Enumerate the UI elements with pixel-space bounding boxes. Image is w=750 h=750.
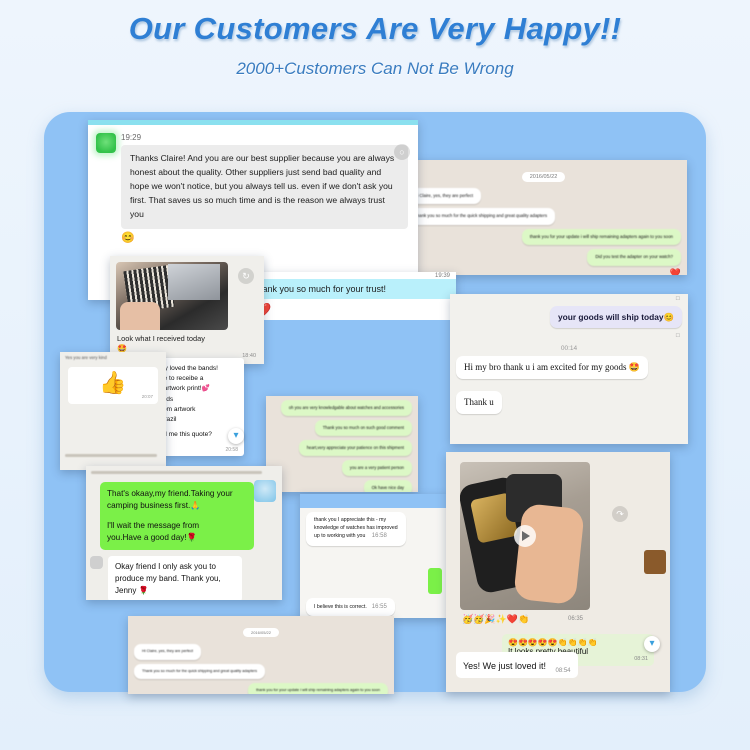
reply-line-1: Okay friend I only ask you to: [115, 561, 235, 573]
watch-video-thumbnail[interactable]: [460, 462, 590, 610]
shot-knowledge-panel[interactable]: oh you are very knowledgable about watch…: [266, 396, 418, 492]
emoji-icon: 🙏: [190, 501, 200, 510]
final-message: Yes! We just loved it!: [463, 661, 546, 671]
chat-text: Thank u: [456, 391, 502, 414]
thumbnail-preview[interactable]: [644, 550, 666, 574]
shot-adapter-panel-top[interactable]: 2016/05/22 Hi Claire, yes, they are perf…: [400, 160, 687, 275]
emoji-icon: 🌹: [187, 533, 197, 542]
contact-avatar: [90, 556, 103, 569]
green-line-2: camping business first.: [107, 501, 190, 510]
message-time: 20:58: [225, 447, 238, 453]
emoji-reaction-icon[interactable]: ○: [394, 144, 410, 160]
contact-avatar: [96, 133, 116, 153]
shot-watches-improved[interactable]: thank you I appreciate this - my knowled…: [300, 494, 448, 618]
testimonial-collage-page: Our Customers Are Very Happy!! 2000+Cust…: [0, 0, 750, 750]
page-subtitle: 2000+Customers Can Not Be Wrong: [0, 59, 750, 79]
emoji-icon: 💕: [202, 385, 210, 392]
scroll-to-bottom-icon[interactable]: ▾: [644, 636, 660, 652]
chat-bubble: thank you so much for your trust!: [246, 279, 456, 299]
message-time: 06:35: [568, 616, 583, 622]
forward-icon[interactable]: ↷: [612, 506, 628, 522]
chat-bubble: oh you are very knowledgable about watch…: [281, 400, 412, 416]
green-line-1: That's okaay,my friend.Taking your: [107, 488, 247, 500]
shot-watch-video[interactable]: ↷ 🥳🥳🎉✨❤️👏 06:35 😍😍😍😍😍👏👏👏👏 It looks prett…: [446, 452, 670, 692]
reply-line-2: produce my band. Thank you,: [115, 573, 235, 585]
shot-thanks-trust[interactable]: 19:39 thank you so much for your trust! …: [246, 272, 456, 320]
photo-caption: Look what I received today: [117, 334, 205, 343]
emoji-icon: 🤩: [629, 362, 640, 372]
chat-bubble: heart,very appreciate your patience on t…: [299, 440, 412, 456]
chat-text: Hi my bro thank u i am excited for my go…: [464, 362, 626, 372]
heart-reaction-icon: ❤️: [246, 299, 456, 320]
shot-adapter-panel-bottom[interactable]: 2016/05/22 Hi Claire, yes, they are perf…: [128, 616, 394, 694]
message-time: 00:14: [450, 345, 688, 352]
chat-bubble: thank you for your update i will ship re…: [248, 683, 388, 694]
chat-bubble: Ok have nice day: [364, 480, 412, 492]
reply-line-3: Jenny: [115, 586, 136, 595]
shot-ship-today[interactable]: ☐ your goods will ship today😊 ☐ 00:14 Hi…: [450, 294, 688, 444]
shot-thumbs-sticker[interactable]: Yes you are very kind 👍 20:07: [60, 352, 166, 470]
message-time: 08:54: [556, 668, 571, 674]
chat-bubble: Thank you so much for the quick shipping…: [134, 664, 265, 680]
chat-bubble: thank you for your update i will ship re…: [522, 229, 681, 245]
forward-icon[interactable]: ↻: [238, 268, 254, 284]
heart-reaction-icon: ❤️: [670, 268, 681, 276]
play-button-icon[interactable]: [514, 525, 536, 547]
scroll-to-bottom-icon[interactable]: ▾: [228, 428, 244, 444]
message-time: 19:39: [435, 273, 450, 279]
green-message-bubble: That's okaay,my friend.Taking your campi…: [100, 482, 254, 550]
chat-bubble: I believe this is correct.16:55: [306, 598, 395, 617]
chat-bubble: Hi Claire, yes, they are perfect: [134, 644, 201, 660]
testimonial-message: Thanks Claire! And you are our best supp…: [121, 145, 408, 229]
chat-bubble: Thank you so much on such good comment: [315, 420, 412, 436]
message-time: 19:29: [121, 133, 141, 142]
reaction-emojis: 🥳🥳🎉✨❤️👏: [462, 614, 529, 625]
emoji-smiley-icon: 😊: [121, 231, 408, 244]
emoji-icon: 🌹: [139, 586, 149, 595]
panel-divider: [246, 320, 456, 342]
chat-bubble: Thank you so much for the quick shipping…: [406, 208, 555, 224]
message-time: 18:40: [242, 353, 256, 359]
emoji-icon: 😊: [664, 312, 674, 322]
chat-bubble: you are a very patient person: [342, 460, 412, 476]
received-photo[interactable]: [116, 262, 228, 330]
shot-received-today[interactable]: ↻ Look what I received today 🤩 18:40: [110, 256, 264, 364]
sticker-header: Yes you are very kind: [60, 352, 166, 363]
page-header: Our Customers Are Very Happy!! 2000+Cust…: [0, 0, 750, 79]
green-line-3: I'll wait the message from: [107, 520, 247, 532]
chat-bubble: thank you I appreciate this - my knowled…: [306, 512, 406, 546]
thumbs-up-sticker-icon: 👍: [73, 372, 153, 394]
daystamp: 2016/05/22: [243, 628, 279, 637]
green-line-4: you.Have a good day!: [107, 533, 187, 542]
chat-bubble: Did you test the adapter on your watch?: [587, 249, 681, 265]
daystamp: 2016/05/22: [522, 172, 566, 182]
page-title: Our Customers Are Very Happy!!: [0, 10, 750, 49]
chat-text: your goods will ship today: [558, 312, 664, 322]
shot-camping-green[interactable]: That's okaay,my friend.Taking your campi…: [86, 466, 282, 600]
cartoon-avatar: [254, 480, 276, 502]
praise-emojis: 😍😍😍😍😍👏👏👏👏: [508, 638, 648, 647]
